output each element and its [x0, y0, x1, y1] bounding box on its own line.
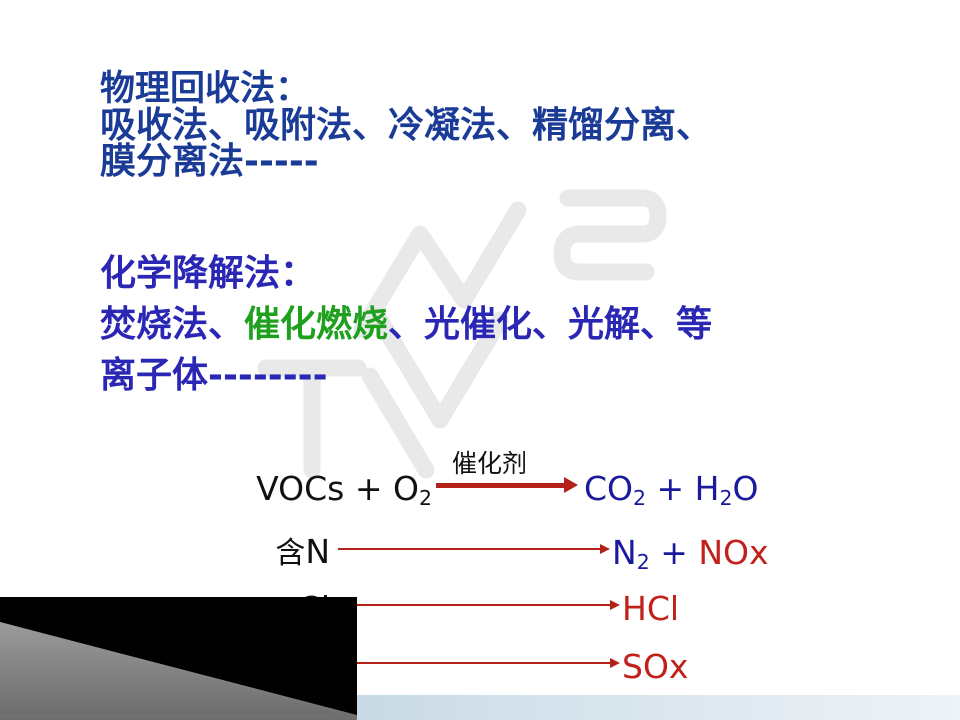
reaction-row-2-products: N2 + NOx: [612, 533, 769, 572]
physical-methods-heading: 物理回收法：: [100, 72, 712, 108]
reaction-arrow-2: [338, 526, 610, 572]
chemical-methods-heading: 化学降解法：: [100, 248, 712, 299]
reaction-arrow-3: [338, 582, 620, 628]
reaction-row-1-products: CO2 + H2O: [584, 469, 759, 508]
reaction-row-3-products: HCl: [622, 589, 679, 628]
chemical-methods-line-3: 离子体--------: [100, 350, 712, 401]
chemical-methods-line-2: 焚烧法、催化燃烧、光催化、光解、等: [100, 299, 712, 350]
reaction-row-4-products: SOx: [622, 647, 688, 686]
catalytic-combustion-highlight: 催化燃烧: [244, 304, 388, 345]
chemical-methods-block: 化学降解法： 焚烧法、催化燃烧、光催化、光解、等 离子体--------: [100, 248, 712, 401]
physical-methods-line-3: 膜分离法-----: [100, 144, 712, 181]
reaction-row-1-reactants: VOCs + O2: [256, 469, 432, 508]
reaction-arrow-1: [436, 462, 578, 508]
reaction-row-2-reactants: 含N: [275, 528, 330, 572]
chemical-methods-line-2-suffix: 、光催化、光解、等: [388, 304, 712, 345]
physical-methods-block: 物理回收法： 吸收法、吸附法、冷凝法、精馏分离、 膜分离法-----: [100, 72, 712, 181]
physical-methods-line-2: 吸收法、吸附法、冷凝法、精馏分离、: [100, 108, 712, 145]
reaction-row-1: VOCs + O2 CO2 + H2O: [0, 462, 960, 508]
reaction-row-2: 含N N2 + NOx: [0, 526, 960, 572]
reaction-arrow-4: [338, 640, 620, 686]
slide-canvas: 物理回收法： 吸收法、吸附法、冷凝法、精馏分离、 膜分离法----- 化学降解法…: [0, 0, 960, 720]
decorative-black-band: [0, 597, 357, 720]
chemical-methods-line-2-prefix: 焚烧法、: [100, 304, 244, 345]
